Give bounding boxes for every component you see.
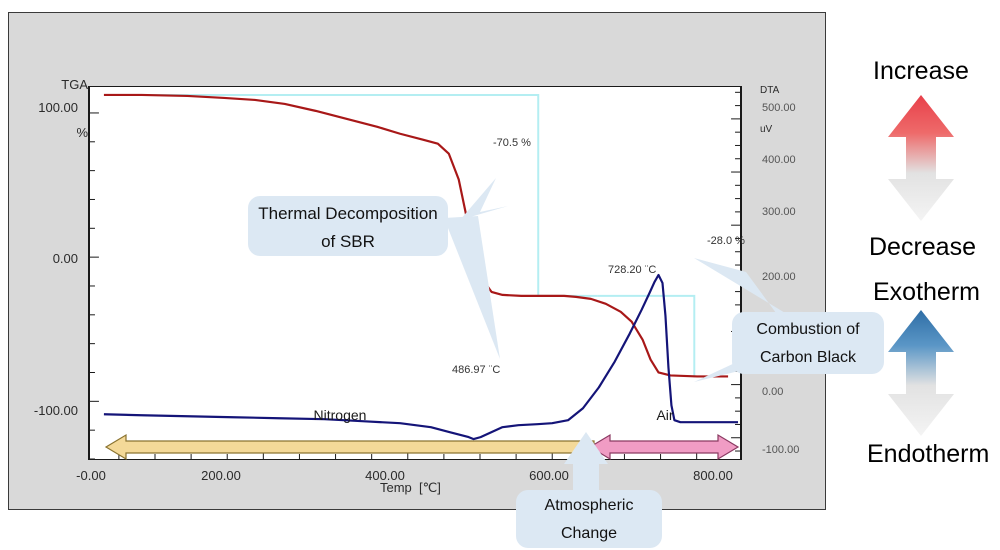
- x-tick-200: 200.00: [186, 468, 256, 483]
- x-tick-400: 400.00: [350, 468, 420, 483]
- screenshot-root: TGA % DTA uV Temp [℃] 100.00 0.00 -100.0…: [0, 0, 1000, 550]
- mass-loss-2-label: -28.0 %: [707, 235, 745, 247]
- legend-increase-label: Increase: [873, 57, 969, 86]
- left-axis-name: TGA: [40, 77, 88, 93]
- y-right-tick-500: 500.00: [762, 102, 796, 114]
- y-left-tick-100: 100.00: [10, 100, 78, 115]
- callout-atmospheric-line1: Atmospheric: [516, 492, 662, 520]
- y-left-tick-0: 0.00: [10, 251, 78, 266]
- callout-combustion[interactable]: Combustion of Carbon Black: [732, 312, 884, 374]
- right-axis-units: uV: [760, 123, 779, 136]
- dta-direction-arrow-icon: [884, 308, 958, 438]
- left-axis-units: %: [40, 125, 88, 141]
- nitrogen-range-arrow: [104, 432, 596, 462]
- y-right-tick-300: 300.00: [762, 206, 796, 218]
- legend-decrease-label: Decrease: [869, 233, 976, 262]
- legend-endotherm-label: Endotherm: [867, 440, 989, 469]
- y-left-tick-neg100: -100.00: [10, 403, 78, 418]
- right-axis-name: DTA: [760, 84, 779, 97]
- callout-atmospheric-line2: Change: [516, 520, 662, 548]
- y-right-tick-neg100: -100.00: [762, 444, 799, 456]
- legend-exotherm-label: Exotherm: [873, 278, 980, 307]
- x-tick-0: -0.00: [56, 468, 126, 483]
- dta-peak-2-label: 728.20 ¨C: [608, 264, 656, 276]
- callout-thermal-decomposition[interactable]: Thermal Decomposition of SBR: [248, 196, 448, 256]
- callout-combustion-line2: Carbon Black: [732, 344, 884, 372]
- mass-direction-arrow-icon: [884, 93, 958, 223]
- callout-combustion-line1: Combustion of: [732, 316, 884, 344]
- y-right-tick-400: 400.00: [762, 154, 796, 166]
- callout-atmospheric-change[interactable]: Atmospheric Change: [516, 490, 662, 548]
- gas-label-air: Air: [615, 407, 715, 423]
- callout-thermal-line1: Thermal Decomposition: [248, 200, 448, 228]
- x-tick-800: 800.00: [678, 468, 748, 483]
- gas-label-nitrogen: Nitrogen: [270, 407, 410, 423]
- callout-thermal-line2: of SBR: [248, 228, 448, 256]
